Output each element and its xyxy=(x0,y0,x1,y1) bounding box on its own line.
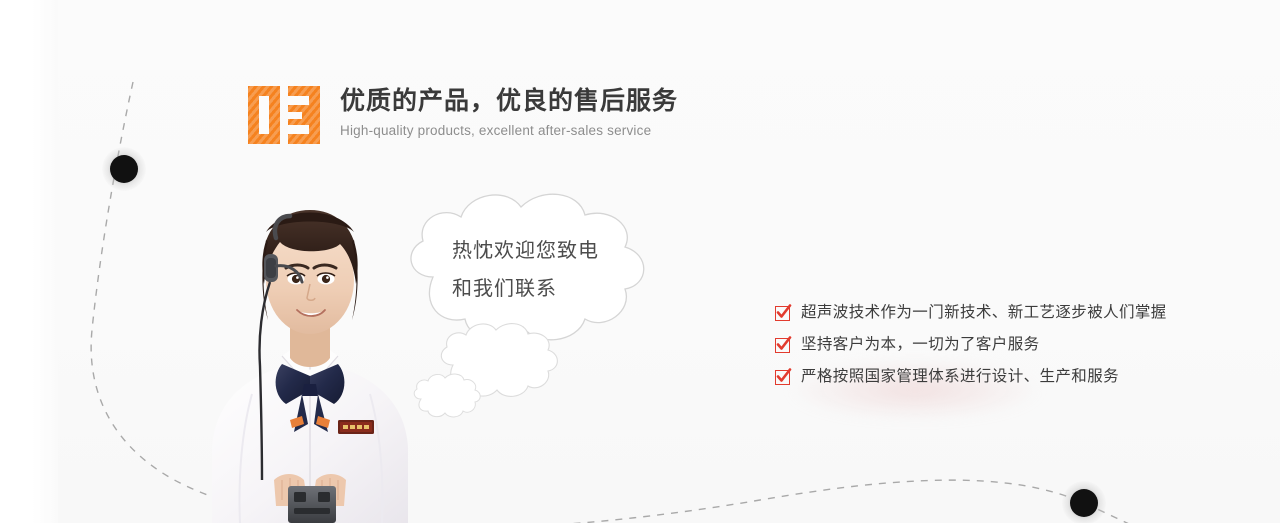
badge-three-notch-bottom xyxy=(288,125,309,134)
feature-list: 超声波技术作为一门新技术、新工艺逐步被人们掌握 坚持客户为本，一切为了客户服务 … xyxy=(775,298,1215,394)
list-item-label: 严格按照国家管理体系进行设计、生产和服务 xyxy=(801,366,1119,388)
list-item: 超声波技术作为一门新技术、新工艺逐步被人们掌握 xyxy=(775,298,1215,328)
list-item: 严格按照国家管理体系进行设计、生产和服务 xyxy=(775,362,1215,392)
list-item-label: 坚持客户为本，一切为了客户服务 xyxy=(801,334,1040,356)
timeline-node-top xyxy=(102,147,146,191)
page-title: 优质的产品，优良的售后服务 xyxy=(340,86,678,116)
badge-zero-cutout xyxy=(259,96,269,134)
customer-service-agent-photo xyxy=(190,180,430,523)
bubble-line-1: 热忱欢迎您致电 xyxy=(452,232,652,270)
check-square-icon xyxy=(775,338,790,353)
section-heading: 优质的产品，优良的售后服务 High-quality products, exc… xyxy=(248,86,678,144)
list-item-label: 超声波技术作为一门新技术、新工艺逐步被人们掌握 xyxy=(801,302,1167,324)
thought-bubble-group xyxy=(395,185,695,435)
bubble-line-2: 和我们联系 xyxy=(452,270,652,308)
thought-bubble-text: 热忱欢迎您致电 和我们联系 xyxy=(452,232,652,308)
check-square-icon xyxy=(775,306,790,321)
list-item: 坚持客户为本，一切为了客户服务 xyxy=(775,330,1215,360)
node-core xyxy=(1070,489,1098,517)
thought-bubble-small xyxy=(414,374,480,417)
heading-text-group: 优质的产品，优良的售后服务 High-quality products, exc… xyxy=(340,86,678,139)
node-core xyxy=(110,155,138,183)
badge-three-notch-top xyxy=(288,96,309,105)
section-number-badge xyxy=(248,86,320,144)
check-square-icon xyxy=(775,370,790,385)
badge-three-notch-mid xyxy=(288,112,302,119)
promo-banner: 优质的产品，优良的售后服务 High-quality products, exc… xyxy=(0,0,1280,523)
page-subtitle: High-quality products, excellent after-s… xyxy=(340,122,678,139)
timeline-node-bottom xyxy=(1062,481,1106,523)
